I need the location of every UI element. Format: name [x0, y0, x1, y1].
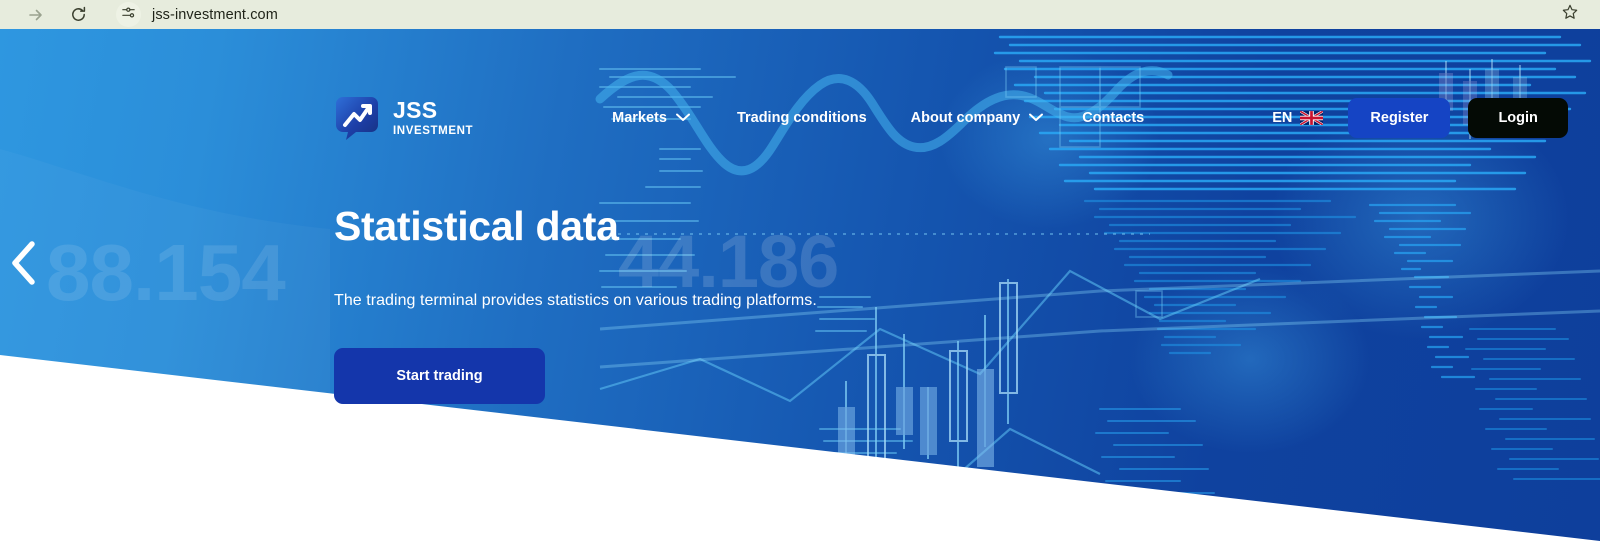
login-button[interactable]: Login: [1468, 98, 1567, 138]
nav-label-markets: Markets: [612, 110, 667, 126]
hero-banner: 88.154 44.186: [0, 29, 1600, 546]
reload-icon: [69, 5, 88, 24]
nav-label-trading-conditions: Trading conditions: [737, 110, 867, 126]
start-trading-button[interactable]: Start trading: [334, 348, 545, 404]
page-title: Statistical data: [334, 204, 1094, 249]
forward-button[interactable]: [22, 1, 50, 29]
site-header: JSS INVESTMENT Markets Trading condition…: [0, 29, 1600, 169]
brand-logo[interactable]: JSS INVESTMENT: [334, 95, 473, 141]
forward-arrow-icon: [26, 5, 46, 25]
brand-name: JSS: [393, 99, 473, 122]
hero-subtitle: The trading terminal provides statistics…: [334, 292, 1094, 310]
brand-tagline: INVESTMENT: [393, 126, 473, 138]
uk-flag-icon: [1300, 111, 1323, 125]
address-bar[interactable]: jss-investment.com: [116, 2, 1556, 27]
background-number-left: 88.154: [46, 233, 285, 313]
chevron-down-icon: [676, 110, 690, 126]
jss-chart-bubble-logo-icon: [334, 95, 380, 141]
hero-content: Statistical data The trading terminal pr…: [334, 204, 1094, 404]
language-code: EN: [1272, 110, 1292, 126]
language-switcher[interactable]: EN: [1272, 110, 1323, 126]
site-settings-icon: [121, 5, 136, 25]
nav-item-markets[interactable]: Markets: [612, 104, 690, 132]
reload-button[interactable]: [64, 1, 92, 29]
nav-item-trading-conditions[interactable]: Trading conditions: [737, 104, 867, 132]
url-text: jss-investment.com: [152, 7, 278, 23]
main-navigation: Markets Trading conditions About company: [612, 104, 1144, 132]
nav-item-about-company[interactable]: About company: [911, 104, 1044, 132]
browser-toolbar: jss-investment.com: [0, 0, 1600, 29]
nav-label-contacts: Contacts: [1082, 110, 1144, 126]
bookmark-button[interactable]: [1556, 1, 1584, 29]
chevron-left-icon: [9, 240, 39, 291]
header-actions: EN Register Login: [1272, 98, 1600, 138]
site-settings-button[interactable]: [116, 2, 141, 27]
chevron-down-icon: [1029, 110, 1043, 126]
nav-item-contacts[interactable]: Contacts: [1082, 104, 1144, 132]
star-icon: [1561, 3, 1579, 26]
carousel-prev-button[interactable]: [6, 240, 42, 290]
nav-label-about-company: About company: [911, 110, 1021, 126]
register-button[interactable]: Register: [1348, 98, 1450, 138]
